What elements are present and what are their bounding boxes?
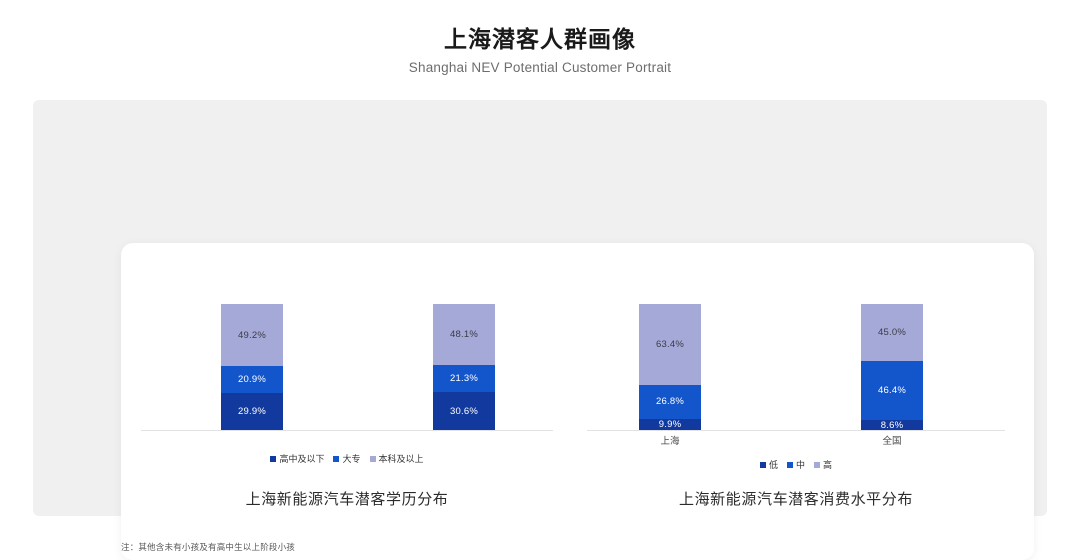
stacked-bar[interactable]: 49.2% 20.9% 29.9% xyxy=(221,304,283,431)
legend-label: 中 xyxy=(796,458,805,471)
x-axis-line xyxy=(587,430,1005,431)
legend-item[interactable]: 低 xyxy=(760,458,778,471)
chart-consumption-distribution: 63.4% 26.8% 9.9% 45.0% 46.4% 8.6% 上海 xyxy=(573,243,1019,560)
charts-row: 49.2% 20.9% 29.9% 48.1% 21.3% 30.6% xyxy=(121,243,1034,560)
chart-education-distribution: 49.2% 20.9% 29.9% 48.1% 21.3% 30.6% xyxy=(127,243,567,560)
legend-item[interactable]: 大专 xyxy=(333,452,360,465)
bar-segment: 29.9% xyxy=(221,393,283,431)
bar-segment: 48.1% xyxy=(433,304,495,365)
bar-segment: 45.0% xyxy=(861,304,923,361)
legend-label: 大专 xyxy=(342,452,360,465)
bar-segment: 46.4% xyxy=(861,361,923,420)
page-header: 上海潜客人群画像 Shanghai NEV Potential Customer… xyxy=(0,24,1080,77)
bar-segment: 21.3% xyxy=(433,365,495,392)
legend-swatch-icon xyxy=(760,462,766,468)
legend-item[interactable]: 中 xyxy=(787,458,805,471)
stacked-bar[interactable]: 45.0% 46.4% 8.6% xyxy=(861,304,923,431)
chart-caption: 上海新能源汽车潜客学历分布 xyxy=(127,488,567,509)
content-panel: 49.2% 20.9% 29.9% 48.1% 21.3% 30.6% xyxy=(33,100,1047,516)
bar-segment: 30.6% xyxy=(433,392,495,431)
bar-segment: 26.8% xyxy=(639,385,701,419)
legend-label: 高 xyxy=(823,458,832,471)
legend-swatch-icon xyxy=(270,456,276,462)
legend-swatch-icon xyxy=(370,456,376,462)
x-tick-label: 上海 xyxy=(639,433,701,447)
chart-caption: 上海新能源汽车潜客消费水平分布 xyxy=(573,488,1019,509)
legend-swatch-icon xyxy=(814,462,820,468)
slide-page: 上海潜客人群画像 Shanghai NEV Potential Customer… xyxy=(0,0,1080,547)
stacked-bar[interactable]: 48.1% 21.3% 30.6% xyxy=(433,304,495,431)
charts-card: 49.2% 20.9% 29.9% 48.1% 21.3% 30.6% xyxy=(121,243,1034,560)
bar-segment: 20.9% xyxy=(221,366,283,393)
legend-label: 本科及以上 xyxy=(379,452,424,465)
x-axis-tick-labels: 上海 全国 xyxy=(573,433,1019,451)
page-subtitle: Shanghai NEV Potential Customer Portrait xyxy=(0,59,1080,77)
legend-education: 高中及以下 大专 本科及以上 xyxy=(127,452,567,465)
bar-segment: 63.4% xyxy=(639,304,701,385)
legend-label: 低 xyxy=(769,458,778,471)
bar-segment: 49.2% xyxy=(221,304,283,366)
legend-swatch-icon xyxy=(787,462,793,468)
page-title: 上海潜客人群画像 xyxy=(0,24,1080,54)
plot-area-education: 49.2% 20.9% 29.9% 48.1% 21.3% 30.6% xyxy=(127,243,567,431)
legend-item[interactable]: 高中及以下 xyxy=(270,452,324,465)
x-axis-line xyxy=(141,430,553,431)
legend-swatch-icon xyxy=(333,456,339,462)
legend-item[interactable]: 本科及以上 xyxy=(370,452,424,465)
plot-area-consumption: 63.4% 26.8% 9.9% 45.0% 46.4% 8.6% xyxy=(573,243,1019,431)
legend-item[interactable]: 高 xyxy=(814,458,832,471)
footnote: 注：其他含未有小孩及有高中生以上阶段小孩 xyxy=(121,541,295,553)
stacked-bar[interactable]: 63.4% 26.8% 9.9% xyxy=(639,304,701,431)
legend-consumption: 低 中 高 xyxy=(573,458,1019,471)
legend-label: 高中及以下 xyxy=(279,452,324,465)
x-tick-label: 全国 xyxy=(861,433,923,447)
